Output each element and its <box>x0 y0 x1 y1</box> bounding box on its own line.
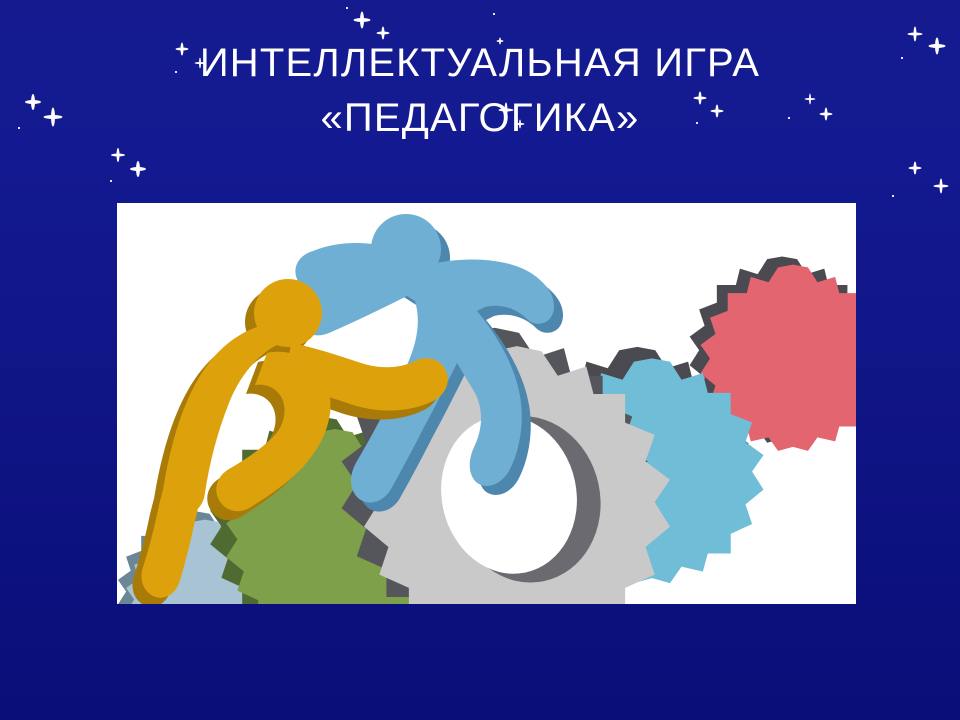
title-line-2: «ПЕДАГОГИКА» <box>0 91 960 146</box>
sparkle-dot-icon <box>110 180 112 182</box>
presentation-slide: ИНТЕЛЛЕКТУАЛЬНАЯ ИГРА «ПЕДАГОГИКА» <box>0 0 960 720</box>
illustration-panel <box>117 203 856 604</box>
teamwork-gears-illustration <box>117 203 856 604</box>
sparkle-dot-icon <box>346 7 348 9</box>
sparkle-dot-icon <box>892 195 894 197</box>
slide-title: ИНТЕЛЛЕКТУАЛЬНАЯ ИГРА «ПЕДАГОГИКА» <box>0 36 960 146</box>
sparkle-dot-icon <box>493 13 495 15</box>
title-line-1: ИНТЕЛЛЕКТУАЛЬНАЯ ИГРА <box>0 36 960 91</box>
